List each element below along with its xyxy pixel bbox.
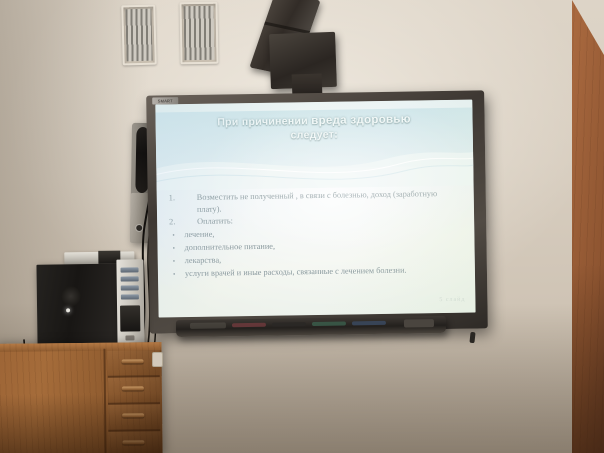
bullet-icon: • xyxy=(173,255,180,267)
slide-title-part2: следует: xyxy=(290,129,338,142)
slide-body: 1. Возместить не полученный , в связи с … xyxy=(169,188,463,281)
smart-board-logo: SMART xyxy=(152,97,178,104)
bullet-text: услуги врачей и иные расходы, связанные … xyxy=(185,264,407,279)
black-pen[interactable] xyxy=(272,322,306,327)
slide-wave-decoration xyxy=(156,144,474,191)
slide-title: При причинении вреда здоровью следует: xyxy=(165,112,462,145)
bullet-text: лечение, xyxy=(184,228,214,240)
blue-pen[interactable] xyxy=(352,321,386,326)
desktop-pc-tower[interactable] xyxy=(36,259,144,348)
bullet-icon: • xyxy=(172,242,179,254)
slide-watermark: 5 слайд xyxy=(439,297,465,303)
bullet-icon: • xyxy=(173,268,180,280)
slide-title-part1: При причинении xyxy=(217,115,311,128)
wall-socket[interactable] xyxy=(152,352,163,367)
projected-slide: При причинении вреда здоровью следует: 1… xyxy=(155,100,475,318)
bullet-text: лекарства, xyxy=(185,254,222,267)
board-screen[interactable]: При причинении вреда здоровью следует: 1… xyxy=(155,100,475,318)
wall-air-vent-2 xyxy=(179,2,218,65)
slide-numbered-item: 1. Возместить не полученный , в связи с … xyxy=(169,188,462,216)
eraser[interactable] xyxy=(404,319,434,327)
cabinet-shadow xyxy=(0,342,163,453)
red-pen[interactable] xyxy=(232,323,266,328)
vent-louvers xyxy=(125,9,152,62)
smart-board[interactable]: При причинении вреда здоровью следует: 1… xyxy=(146,90,488,333)
pc-front-panel[interactable] xyxy=(116,259,144,347)
pc-drive-bay[interactable] xyxy=(120,267,138,272)
bullet-icon: • xyxy=(172,229,179,241)
vent-louvers xyxy=(184,6,215,61)
item-text: Возместить не полученный , в связи с бол… xyxy=(197,188,462,215)
wall-air-vent-1 xyxy=(121,5,157,66)
item-number: 2. xyxy=(169,216,197,228)
pc-fan-vent xyxy=(61,286,81,306)
pc-drive-bay[interactable] xyxy=(121,294,139,299)
slide-title-emphasis: вреда здоровью xyxy=(311,114,411,128)
item-number: 1. xyxy=(169,192,197,216)
bullet-text: дополнительное питание, xyxy=(184,240,275,253)
green-pen[interactable] xyxy=(312,321,346,326)
pc-side-panel xyxy=(36,264,119,349)
pc-power-button[interactable] xyxy=(125,335,134,340)
classroom-scene: При причинении вреда здоровью следует: 1… xyxy=(0,0,604,453)
tray-slot xyxy=(190,322,226,329)
pc-power-led xyxy=(66,308,70,312)
pc-drive-bay[interactable] xyxy=(121,276,139,281)
wooden-cabinet xyxy=(0,342,163,453)
pc-lower-panel xyxy=(120,305,140,331)
pc-drive-bay[interactable] xyxy=(121,285,139,290)
